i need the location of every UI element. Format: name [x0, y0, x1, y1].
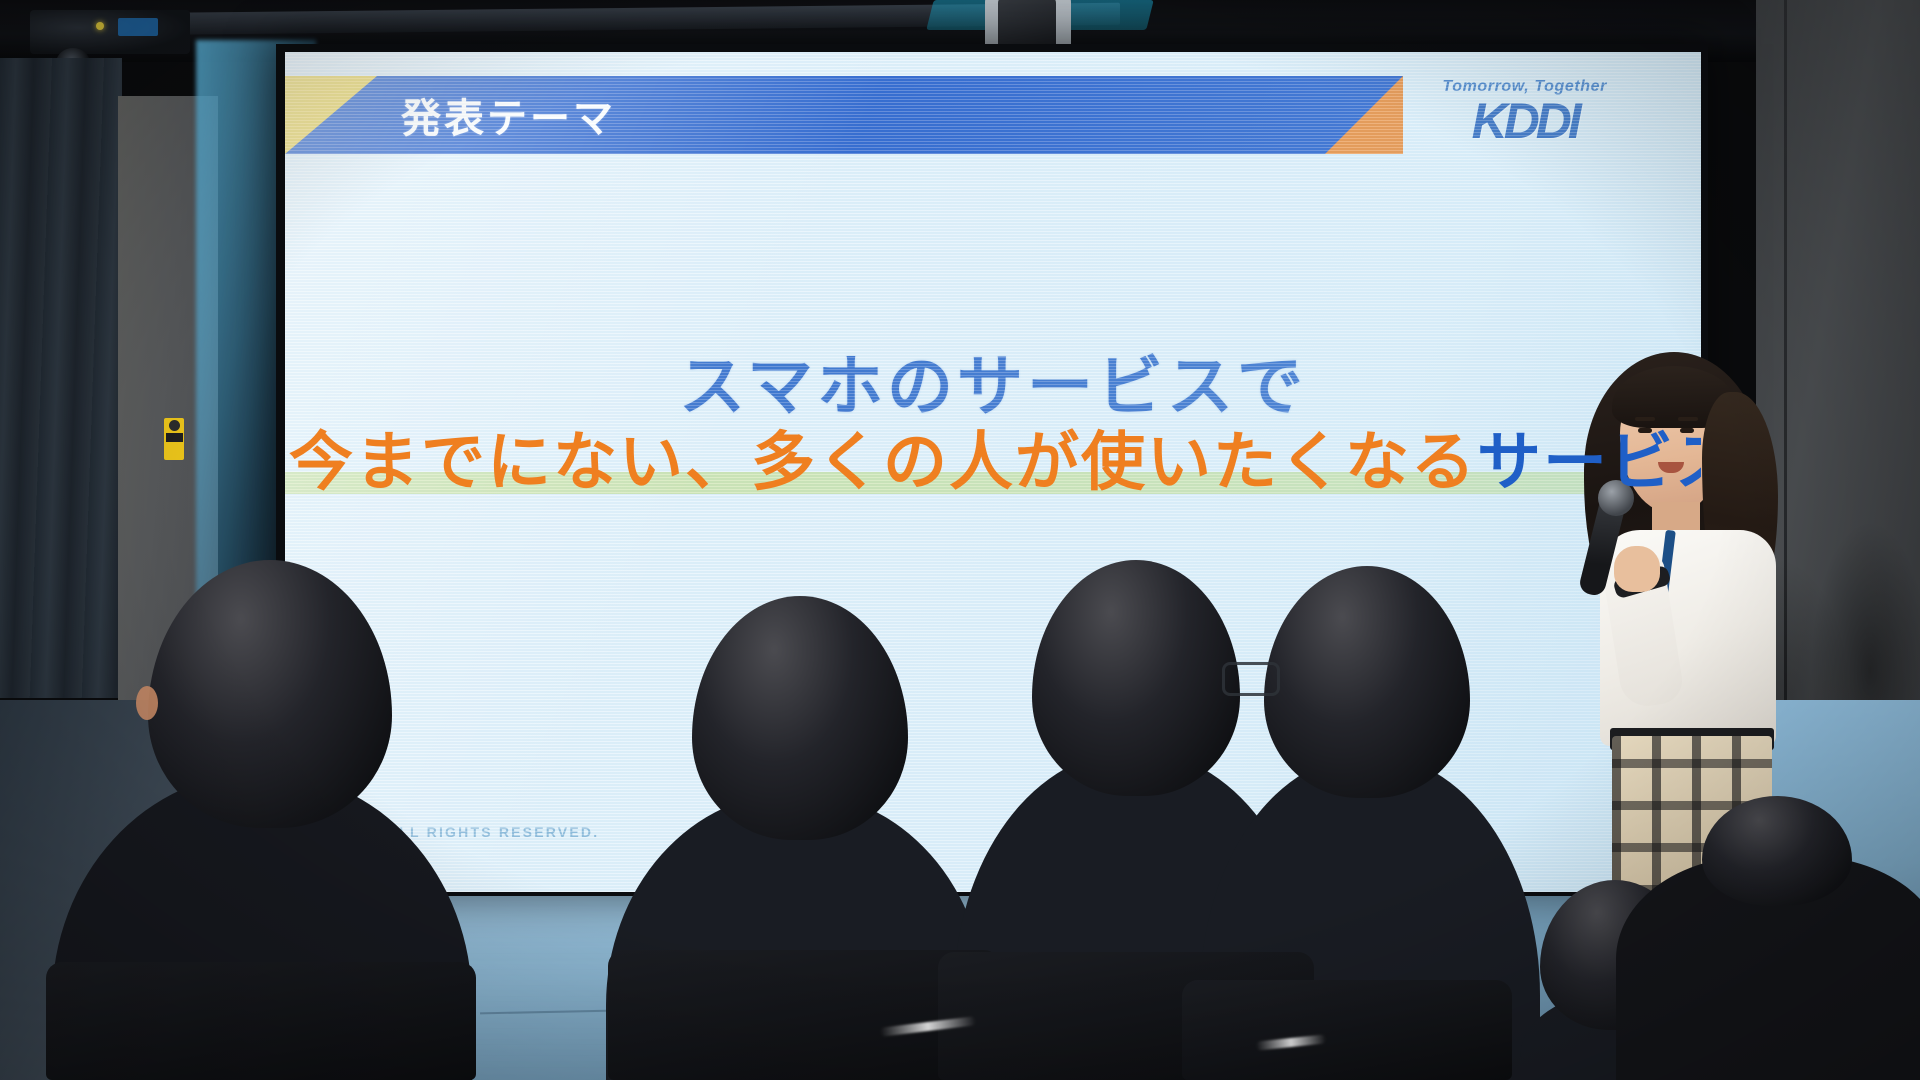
header-orange-accent — [1325, 76, 1403, 154]
presenter-hand — [1614, 546, 1660, 592]
presenter-eyebrow — [1635, 417, 1655, 421]
glasses-icon — [1222, 662, 1280, 696]
kddi-logo: Tomorrow, Together KDDI — [1442, 78, 1607, 144]
presenter — [1576, 344, 1796, 844]
student-head — [1264, 566, 1470, 798]
student-head — [1702, 796, 1852, 906]
slide-title: 発表テーマ — [401, 86, 616, 144]
slide-header-band: 発表テーマ — [285, 76, 1403, 154]
student-ear — [136, 686, 158, 720]
ceiling-equipment-panel — [118, 18, 158, 36]
slide-line-one: スマホのサービスで — [285, 352, 1701, 421]
student-head — [148, 560, 392, 828]
header-yellow-accent — [285, 76, 377, 154]
presenter-eyebrow — [1678, 417, 1698, 421]
safety-sign — [164, 418, 184, 460]
audience-member — [1616, 796, 1920, 1080]
status-led — [96, 22, 104, 30]
slide-line-two-highlight: 今までにない、多くの人が使いたくなる — [289, 426, 1477, 498]
slide-line-two-tail: サービスは何ですか？ — [1477, 426, 1701, 498]
slide-line-two: 今までにない、多くの人が使いたくなるサービスは何ですか？ — [285, 429, 1701, 496]
student-head — [692, 596, 908, 840]
safety-sign-icon — [169, 420, 180, 431]
slide-body: スマホのサービスで 今までにない、多くの人が使いたくなるサービスは何ですか？ — [285, 352, 1701, 496]
kddi-wordmark: KDDI — [1442, 98, 1607, 144]
safety-sign-label-bar — [166, 433, 183, 442]
chair — [46, 962, 476, 1080]
chair — [1182, 980, 1512, 1080]
ceiling-equipment — [30, 10, 190, 54]
presentation-scene: 発表テーマ Tomorrow, Together KDDI スマホのサービスで … — [0, 0, 1920, 1080]
